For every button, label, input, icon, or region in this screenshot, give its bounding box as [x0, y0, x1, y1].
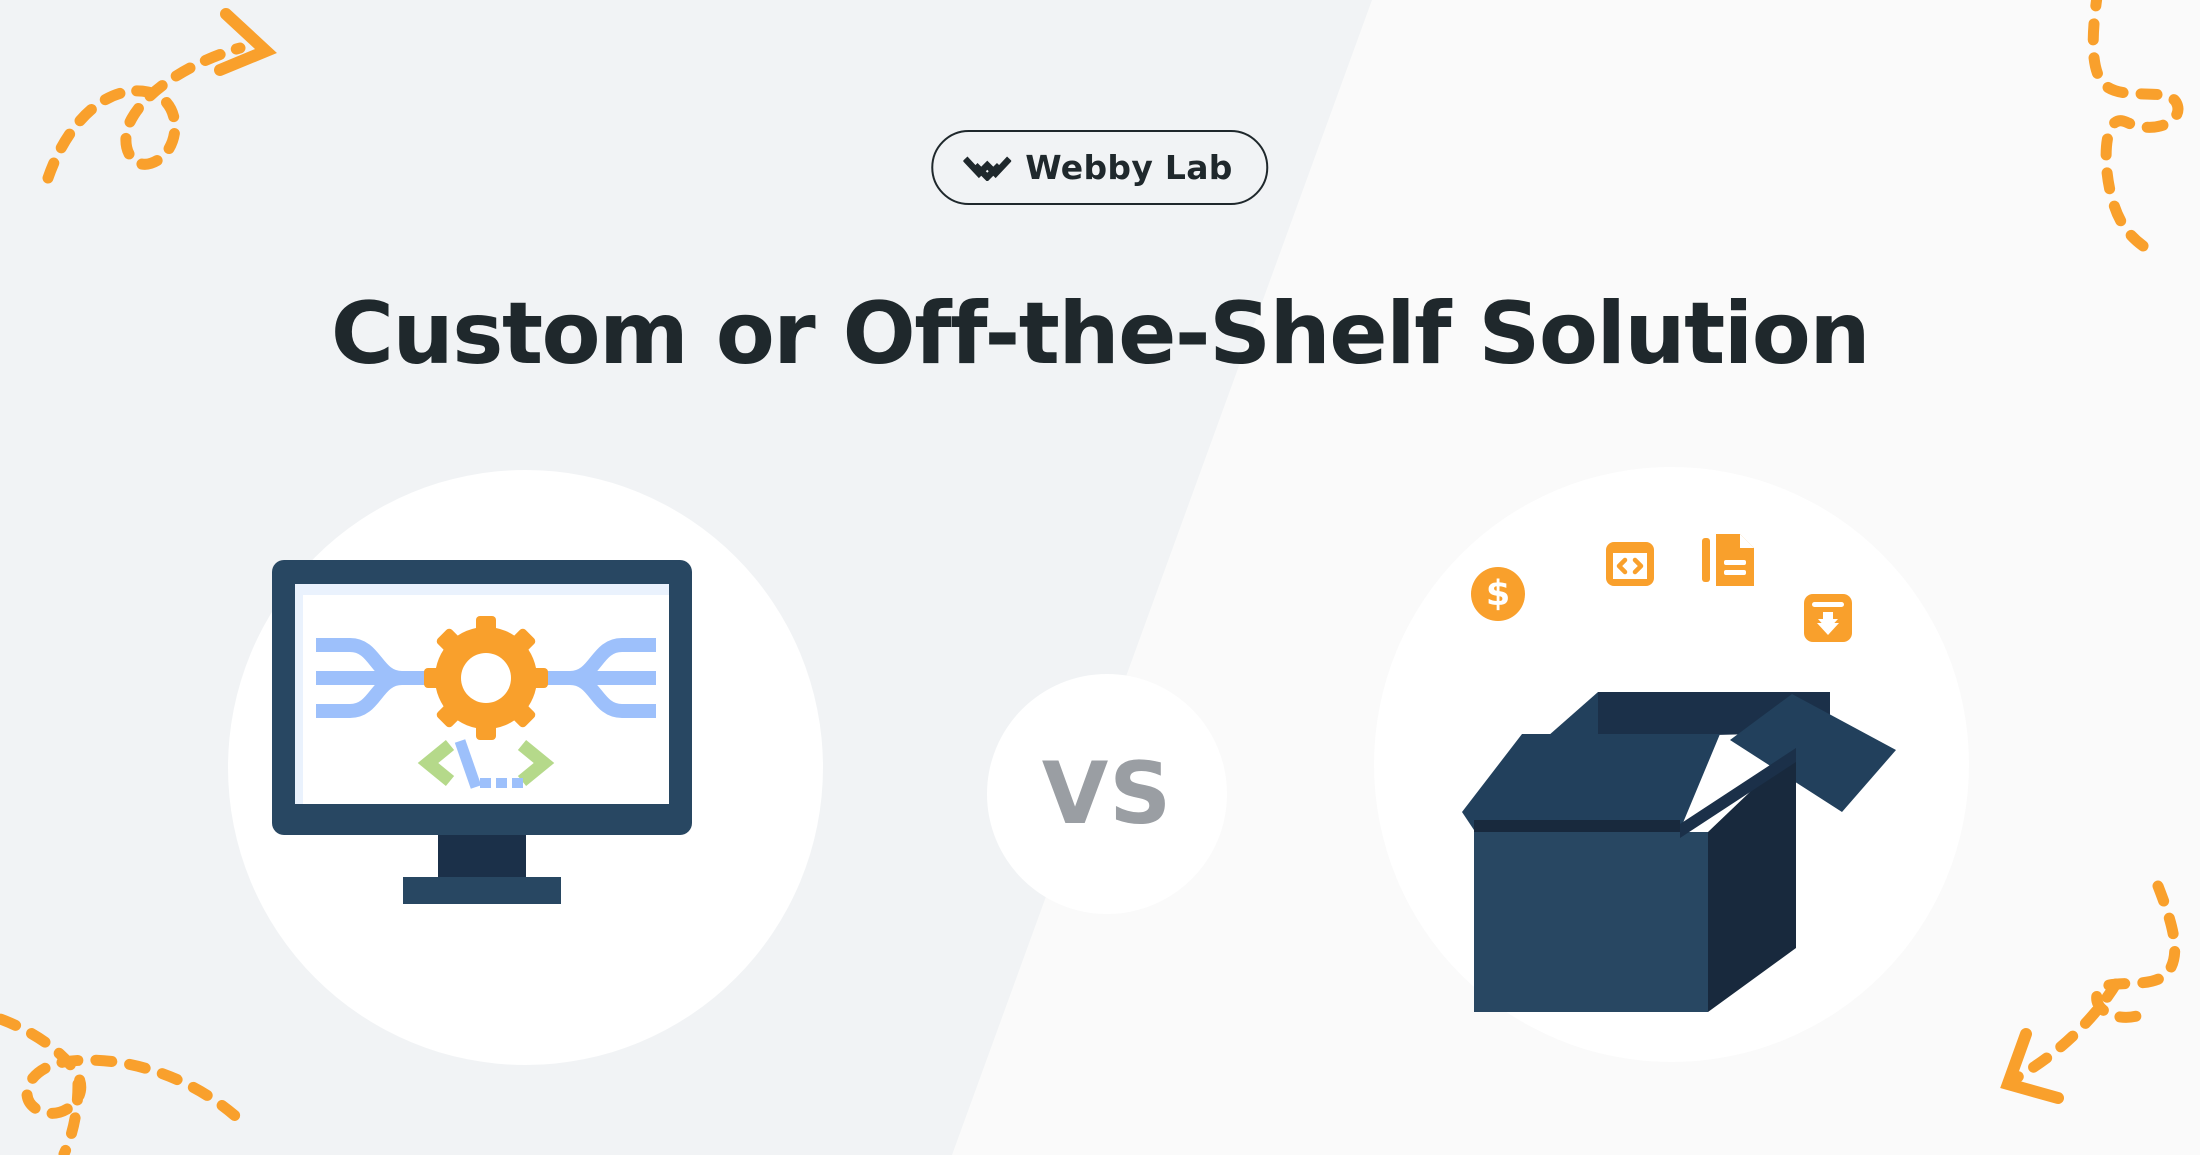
- brand-name: Webby Lab: [1025, 148, 1232, 187]
- brand-logo-pill[interactable]: Webby Lab: [931, 130, 1268, 205]
- versus-badge: VS: [987, 674, 1227, 914]
- open-box-icon: [1462, 692, 1896, 1012]
- dollar-coin-icon: $: [1471, 567, 1525, 621]
- download-archive-icon: [1804, 594, 1852, 642]
- banner-canvas: Webby Lab Custom or Off-the-Shelf Soluti…: [0, 0, 2200, 1155]
- custom-solution-illustration: [272, 560, 692, 965]
- svg-text:$: $: [1486, 574, 1510, 614]
- off-the-shelf-solution-illustration: $: [1430, 512, 1920, 1017]
- page-title: Custom or Off-the-Shelf Solution: [0, 288, 2200, 381]
- versus-label: VS: [1042, 744, 1173, 844]
- code-window-icon: [1606, 542, 1654, 586]
- webby-lab-chevron-logo-icon: [963, 155, 1011, 181]
- document-icon: [1702, 534, 1754, 586]
